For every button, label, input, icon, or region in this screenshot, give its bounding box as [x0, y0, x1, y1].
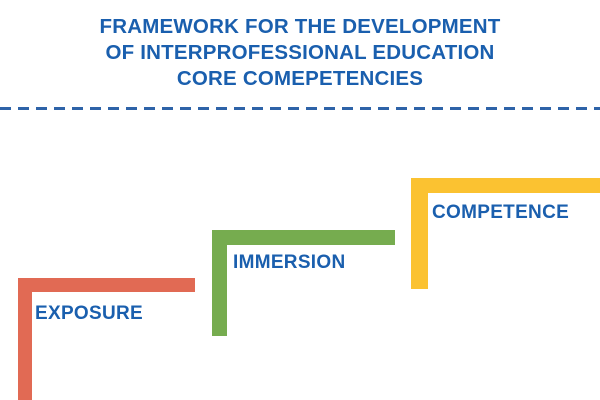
step-immersion-label: IMMERSION [233, 253, 345, 272]
title-line-3: CORE COMEPETENCIES [0, 66, 600, 92]
step-immersion-horizontal-bar [212, 230, 395, 245]
step-exposure[interactable]: EXPOSURE [18, 278, 195, 400]
step-exposure-label: EXPOSURE [35, 304, 143, 323]
page-title: FRAMEWORK FOR THE DEVELOPMENT OF INTERPR… [0, 14, 600, 92]
step-competence-horizontal-bar [411, 178, 600, 193]
dashed-divider [0, 107, 600, 110]
step-competence-label: COMPETENCE [432, 203, 569, 222]
step-immersion[interactable]: IMMERSION [212, 230, 395, 336]
step-exposure-horizontal-bar [18, 278, 195, 292]
step-competence[interactable]: COMPETENCE [411, 178, 600, 289]
title-line-2: OF INTERPROFESSIONAL EDUCATION [0, 40, 600, 66]
step-exposure-vertical-bar [18, 278, 32, 400]
title-line-1: FRAMEWORK FOR THE DEVELOPMENT [0, 14, 600, 40]
slide-canvas: FRAMEWORK FOR THE DEVELOPMENT OF INTERPR… [0, 0, 600, 400]
step-competence-vertical-bar [411, 178, 428, 289]
step-immersion-vertical-bar [212, 230, 227, 336]
